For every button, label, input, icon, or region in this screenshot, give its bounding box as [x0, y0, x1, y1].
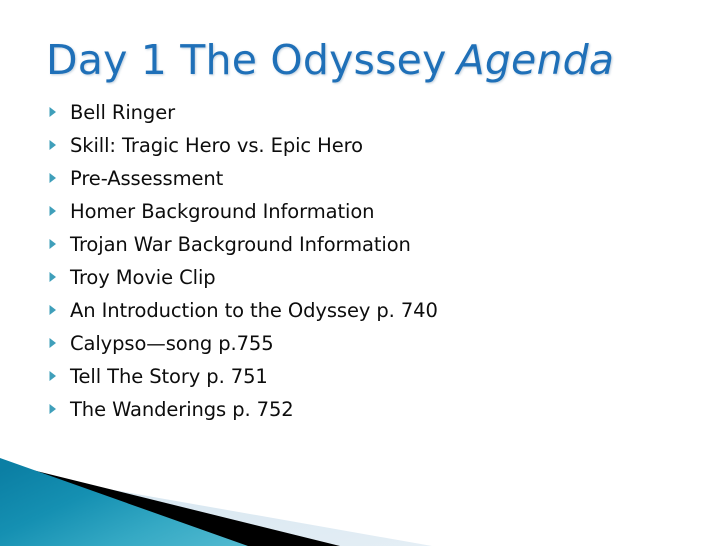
- triangle-right-icon: [48, 139, 70, 151]
- list-item: An Introduction to the Odyssey p. 740: [48, 294, 688, 327]
- list-item-label: Homer Background Information: [70, 195, 374, 228]
- pale-band-shape: [0, 470, 432, 546]
- triangle-right-icon: [48, 370, 70, 382]
- page-title: Day 1 The Odyssey: [46, 36, 447, 84]
- triangle-right-icon: [48, 337, 70, 349]
- triangle-right-icon: [48, 304, 70, 316]
- triangle-right-icon: [48, 106, 70, 118]
- list-item: Pre-Assessment: [48, 162, 688, 195]
- list-item-label: Calypso—song p.755: [70, 327, 274, 360]
- list-item-label: An Introduction to the Odyssey p. 740: [70, 294, 438, 327]
- slide-canvas: Day 1 The OdysseyAgenda Bell Ringer Skil…: [0, 0, 728, 546]
- list-item-label: Skill: Tragic Hero vs. Epic Hero: [70, 129, 363, 162]
- list-item-label: The Wanderings p. 752: [70, 393, 294, 426]
- list-item: Troy Movie Clip: [48, 261, 688, 294]
- triangle-right-icon: [48, 172, 70, 184]
- black-stripe-shape: [0, 462, 340, 546]
- list-item-label: Pre-Assessment: [70, 162, 223, 195]
- triangle-right-icon: [48, 403, 70, 415]
- list-item: Trojan War Background Information: [48, 228, 688, 261]
- list-item: Skill: Tragic Hero vs. Epic Hero: [48, 129, 688, 162]
- list-item-label: Trojan War Background Information: [70, 228, 411, 261]
- page-title-emphasis: Agenda: [447, 36, 615, 84]
- teal-wedge-shape: [0, 458, 248, 546]
- list-item: Bell Ringer: [48, 96, 688, 129]
- list-item-label: Bell Ringer: [70, 96, 175, 129]
- list-item: Tell The Story p. 751: [48, 360, 688, 393]
- triangle-right-icon: [48, 271, 70, 283]
- list-item: Homer Background Information: [48, 195, 688, 228]
- triangle-right-icon: [48, 205, 70, 217]
- list-item: The Wanderings p. 752: [48, 393, 688, 426]
- footer-decoration: [0, 436, 728, 546]
- list-item: Calypso—song p.755: [48, 327, 688, 360]
- agenda-list: Bell Ringer Skill: Tragic Hero vs. Epic …: [48, 96, 688, 426]
- list-item-label: Tell The Story p. 751: [70, 360, 268, 393]
- slide-title: Day 1 The OdysseyAgenda: [46, 34, 696, 86]
- triangle-right-icon: [48, 238, 70, 250]
- list-item-label: Troy Movie Clip: [70, 261, 216, 294]
